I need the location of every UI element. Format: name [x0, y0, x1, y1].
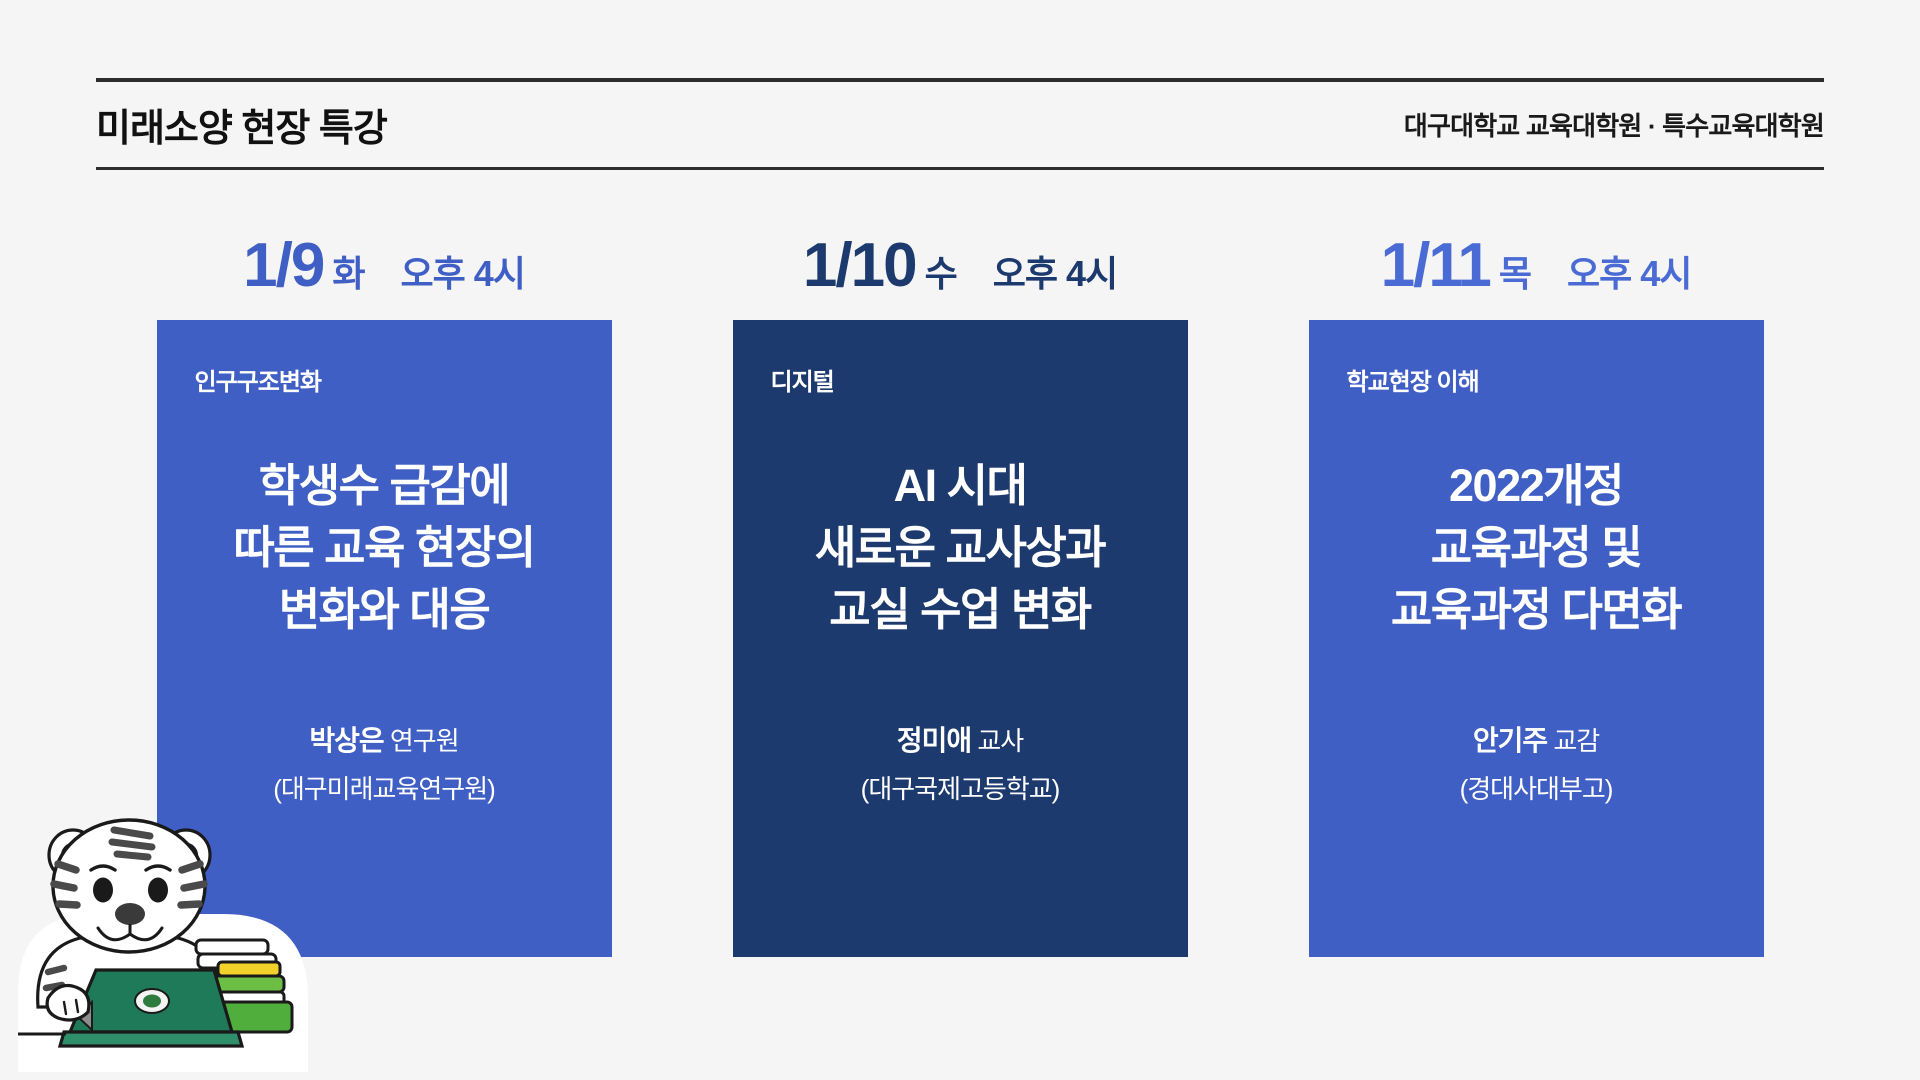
speaker-organization: (경대사대부고) [1337, 769, 1736, 806]
lecture-speaker-1: 박상은 연구원 (대구미래교육연구원) [185, 719, 584, 806]
lecture-weekday-1: 화 [332, 245, 364, 297]
lecture-time-2: 오후 4시 [993, 245, 1117, 297]
lecture-weekday-2: 수 [925, 245, 957, 297]
page-title: 미래소양 현장 특강 [96, 97, 387, 152]
lecture-card-body-3[interactable]: 학교현장 이해 2022개정 교육과정 및 교육과정 다면화 안기주 교감 (경… [1309, 320, 1764, 957]
lecture-time-1: 오후 4시 [400, 245, 524, 297]
speaker-role: 교감 [1547, 726, 1599, 756]
speaker-organization: (대구국제고등학교) [761, 769, 1160, 806]
lecture-title-2: AI 시대 새로운 교사상과 교실 수업 변화 [761, 455, 1160, 641]
lecture-tag-2: 디지털 [771, 362, 834, 397]
lecture-date-3: 1/11 [1381, 230, 1490, 301]
lecture-weekday-3: 목 [1499, 245, 1531, 297]
lecture-title-line: 2022개정 [1337, 455, 1736, 517]
lecture-title-line: 변화와 대응 [185, 579, 584, 641]
lecture-time-3: 오후 4시 [1567, 245, 1691, 297]
speaker-organization: (대구미래교육연구원) [185, 769, 584, 806]
speaker-name: 정미애 [897, 725, 971, 756]
lecture-title-line: 교육과정 및 [1337, 517, 1736, 579]
lecture-title-1: 학생수 급감에 따른 교육 현장의 변화와 대응 [185, 455, 584, 641]
lecture-date-2: 1/10 [803, 230, 916, 301]
lecture-card-list: 1/9 화 오후 4시 인구구조변화 학생수 급감에 따른 교육 현장의 변화와… [96, 230, 1824, 1030]
page-header: 미래소양 현장 특강 대구대학교 교육대학원 · 특수교육대학원 [96, 78, 1824, 170]
speaker-name: 박상은 [309, 725, 383, 756]
lecture-date-row-2: 1/10 수 오후 4시 [733, 230, 1188, 320]
lecture-date-row-3: 1/11 목 오후 4시 [1309, 230, 1764, 320]
lecture-card-3[interactable]: 1/11 목 오후 4시 학교현장 이해 2022개정 교육과정 및 교육과정 … [1248, 230, 1824, 1030]
lecture-title-line: 학생수 급감에 [185, 455, 584, 517]
lecture-tag-3: 학교현장 이해 [1347, 362, 1479, 397]
lecture-title-line: 새로운 교사상과 [761, 517, 1160, 579]
lecture-tag-1: 인구구조변화 [195, 362, 321, 397]
lecture-date-row-1: 1/9 화 오후 4시 [157, 230, 612, 320]
lecture-title-line: 교육과정 다면화 [1337, 579, 1736, 641]
lecture-card-2[interactable]: 1/10 수 오후 4시 디지털 AI 시대 새로운 교사상과 교실 수업 변화… [672, 230, 1248, 1030]
lecture-title-3: 2022개정 교육과정 및 교육과정 다면화 [1337, 455, 1736, 641]
lecture-speaker-2: 정미애 교사 (대구국제고등학교) [761, 719, 1160, 806]
lecture-title-line: 따른 교육 현장의 [185, 517, 584, 579]
speaker-role: 교사 [971, 726, 1023, 756]
lecture-speaker-3: 안기주 교감 (경대사대부고) [1337, 719, 1736, 806]
lecture-date-1: 1/9 [243, 230, 323, 301]
speaker-name: 안기주 [1473, 725, 1547, 756]
lecture-title-line: AI 시대 [761, 455, 1160, 517]
speaker-role: 연구원 [384, 726, 459, 756]
lecture-card-body-2[interactable]: 디지털 AI 시대 새로운 교사상과 교실 수업 변화 정미애 교사 (대구국제… [733, 320, 1188, 957]
tiger-mascot-icon [18, 802, 308, 1072]
lecture-title-line: 교실 수업 변화 [761, 579, 1160, 641]
organization-label: 대구대학교 교육대학원 · 특수교육대학원 [1404, 106, 1824, 143]
